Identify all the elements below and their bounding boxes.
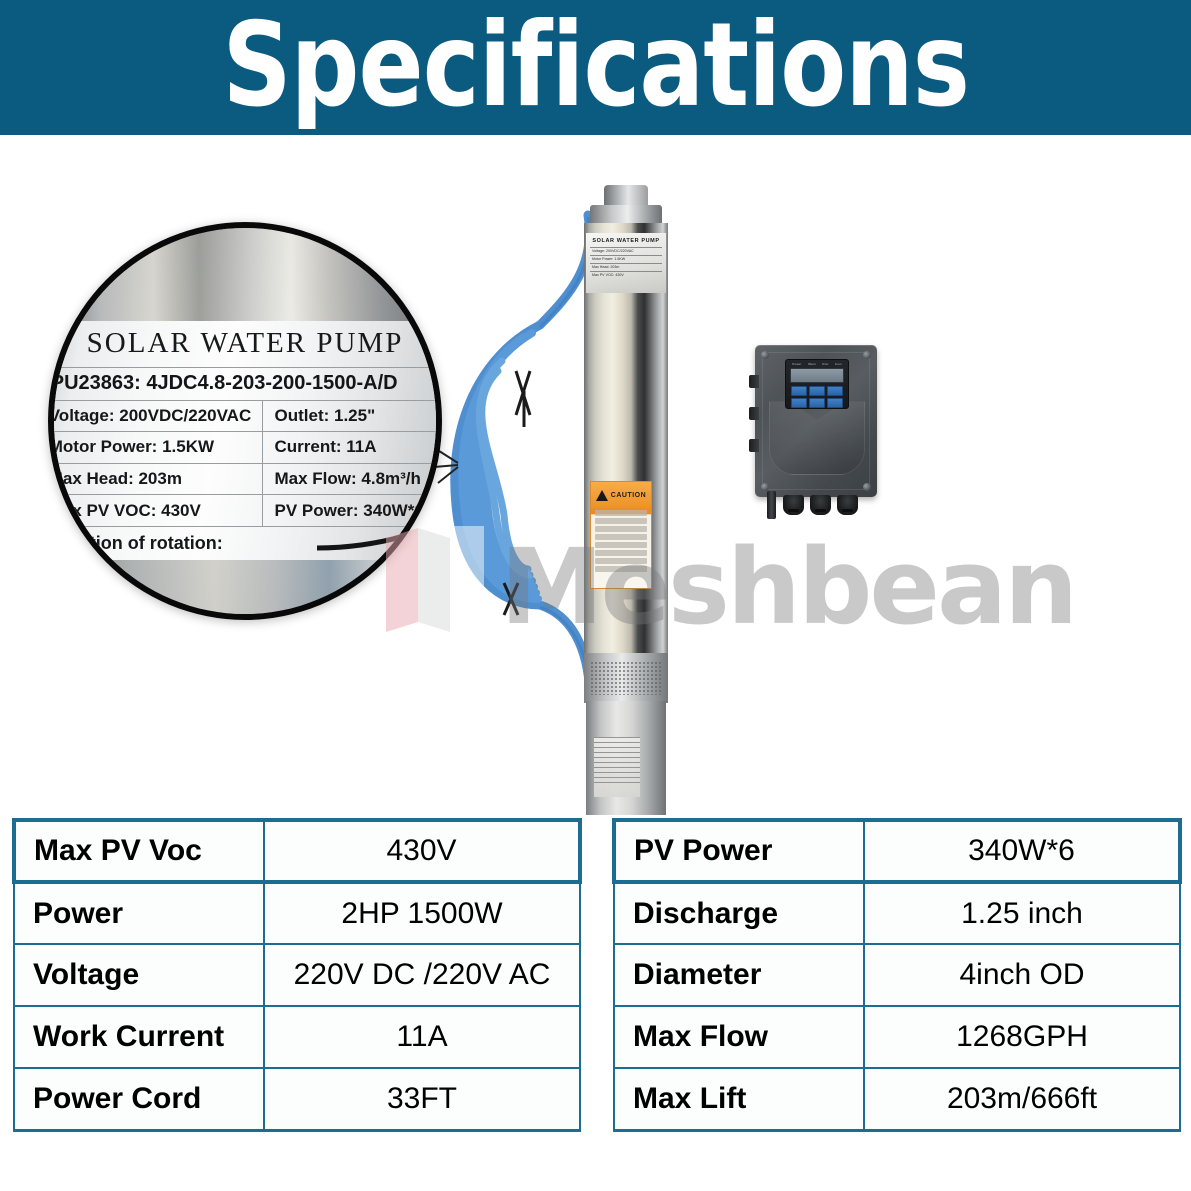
spec-value: 1.25 inch — [864, 882, 1180, 944]
nameplate-plate: SOLAR WATER PUMP PU23863: 4JDC4.8-203-20… — [48, 321, 442, 560]
controller-screw-icon — [863, 351, 871, 359]
table-row: Discharge 1.25 inch — [614, 882, 1180, 944]
table-row: Max Lift 203m/666ft — [614, 1068, 1180, 1130]
controller-side-connector — [749, 407, 759, 420]
nameplate-row: Max Head: 203m Max Flow: 4.8m³/h — [48, 463, 442, 495]
nameplate-spec-grid: Voltage: 200VDC/220VAC Outlet: 1.25" Mot… — [48, 400, 442, 526]
spec-value: 4inch OD — [864, 944, 1180, 1006]
spec-key: Diameter — [614, 944, 864, 1006]
controller-button[interactable] — [791, 386, 807, 396]
table-row: Voltage 220V DC /220V AC — [14, 944, 580, 1006]
nameplate-row: Motor Power: 1.5KW Current: 11A — [48, 431, 442, 463]
spec-key: Work Current — [14, 1006, 264, 1068]
table-row: Diameter 4inch OD — [614, 944, 1180, 1006]
page-title: Specifications — [222, 8, 969, 124]
controller-button[interactable] — [809, 398, 825, 408]
spec-value: 33FT — [264, 1068, 580, 1130]
pump-nameplate-row: Voltage: 200VDC/220VAC — [590, 247, 662, 255]
spec-table-right: PV Power 340W*6 Discharge 1.25 inch Diam… — [612, 818, 1182, 1132]
indicator-label-power: Power — [792, 362, 802, 366]
controller-button-grid[interactable] — [786, 383, 848, 411]
nameplate-cell-right: PV Power: 340W*6 — [262, 495, 443, 526]
pump-nameplate-small: SOLAR WATER PUMP Voltage: 200VDC/220VAC … — [586, 233, 666, 293]
pump-nameplate-rows: Voltage: 200VDC/220VAC Motor Power: 1.5K… — [586, 247, 666, 279]
spec-key: Discharge — [614, 882, 864, 944]
spec-value: 1268GPH — [864, 1006, 1180, 1068]
controller-lcd-display — [790, 368, 844, 383]
specification-tables: Max PV Voc 430V Power 2HP 1500W Voltage … — [0, 818, 1191, 1168]
nameplate-magnifier-circle: SOLAR WATER PUMP PU23863: 4JDC4.8-203-20… — [48, 222, 442, 620]
controller-button[interactable] — [791, 398, 807, 408]
controller-keypad-panel[interactable]: Power Warn Run Com — [785, 359, 849, 409]
spec-key: Voltage — [14, 944, 264, 1006]
indicator-label-com: Com — [835, 362, 842, 366]
nameplate-cell-left: Max Head: 203m — [48, 464, 262, 495]
controller-screw-icon — [761, 483, 769, 491]
spec-key: PV Power — [614, 820, 864, 882]
table-row: Max PV Voc 430V — [14, 820, 580, 882]
pump-caution-label: CAUTION — [590, 481, 652, 589]
table-row: Work Current 11A — [14, 1006, 580, 1068]
spec-value: 2HP 1500W — [264, 882, 580, 944]
table-row: Power 2HP 1500W — [14, 882, 580, 944]
controller-small-connector — [767, 491, 776, 519]
nameplate-cell-right: Outlet: 1.25" — [262, 401, 443, 432]
product-photo-area: SOLAR WATER PUMP PU23863: 4JDC4.8-203-20… — [0, 135, 1191, 815]
controller-cable-gland — [783, 495, 804, 515]
controller-enclosure: Power Warn Run Com — [755, 345, 877, 497]
nameplate-cell-left: Max PV VOC: 430V — [48, 495, 262, 526]
spec-key: Power — [14, 882, 264, 944]
pump-controller-box: Power Warn Run Com — [755, 345, 877, 515]
specifications-page: Specifications SOLAR WATER PUMP PU23863:… — [0, 0, 1191, 1191]
rotation-label: Direction of rotation: — [48, 533, 223, 554]
pump-nameplate-row: Max Head: 203m — [590, 263, 662, 271]
submersible-pump-body: SOLAR WATER PUMP Voltage: 200VDC/220VAC … — [578, 185, 674, 815]
pump-nameplate-row: Max PV VOC: 430V — [590, 271, 662, 279]
pump-nameplate-title: SOLAR WATER PUMP — [586, 238, 666, 244]
rotation-arrow-icon — [315, 530, 425, 552]
table-row: Power Cord 33FT — [14, 1068, 580, 1130]
pump-intake-screen — [584, 653, 668, 703]
page-header-banner: Specifications — [0, 0, 1191, 135]
pump-nameplate-row: Motor Power: 1.5KW — [590, 255, 662, 263]
nameplate-rotation-row: Direction of rotation: — [48, 526, 442, 560]
spec-key: Max Flow — [614, 1006, 864, 1068]
spec-table-left: Max PV Voc 430V Power 2HP 1500W Voltage … — [12, 818, 582, 1132]
spec-value: 203m/666ft — [864, 1068, 1180, 1130]
controller-cable-gland — [810, 495, 831, 515]
controller-cable-gland — [837, 495, 858, 515]
caution-header: CAUTION — [591, 482, 651, 508]
spec-key: Max PV Voc — [14, 820, 264, 882]
spec-key: Power Cord — [14, 1068, 264, 1130]
caution-body-text — [591, 510, 651, 572]
spec-value: 340W*6 — [864, 820, 1180, 882]
nameplate-cell-right: Current: 11A — [262, 432, 443, 463]
spec-value: 11A — [264, 1006, 580, 1068]
nameplate-title: SOLAR WATER PUMP — [48, 321, 442, 367]
pump-intake-perforations — [590, 661, 662, 695]
controller-screw-icon — [761, 351, 769, 359]
spec-value: 430V — [264, 820, 580, 882]
nameplate-model: PU23863: 4JDC4.8-203-200-1500-A/D — [48, 367, 442, 400]
controller-button[interactable] — [827, 398, 843, 408]
spec-key: Max Lift — [614, 1068, 864, 1130]
indicator-label-warn: Warn — [808, 362, 816, 366]
controller-button[interactable] — [809, 386, 825, 396]
pump-motor-label — [594, 737, 640, 797]
table-row: PV Power 340W*6 — [614, 820, 1180, 882]
nameplate-row: Max PV VOC: 430V PV Power: 340W*6 — [48, 494, 442, 526]
controller-button[interactable] — [827, 386, 843, 396]
table-row: Max Flow 1268GPH — [614, 1006, 1180, 1068]
indicator-label-run: Run — [822, 362, 828, 366]
caution-text: CAUTION — [611, 492, 646, 499]
nameplate-row: Voltage: 200VDC/220VAC Outlet: 1.25" — [48, 400, 442, 432]
nameplate-cell-left: Motor Power: 1.5KW — [48, 432, 262, 463]
controller-screw-icon — [863, 483, 871, 491]
controller-side-connector — [749, 375, 759, 388]
warning-triangle-icon — [596, 490, 608, 501]
controller-indicator-row: Power Warn Run Com — [786, 360, 848, 368]
spec-value: 220V DC /220V AC — [264, 944, 580, 1006]
nameplate-cell-right: Max Flow: 4.8m³/h — [262, 464, 443, 495]
nameplate-cell-left: Voltage: 200VDC/220VAC — [48, 401, 262, 432]
controller-side-connector — [749, 439, 759, 452]
